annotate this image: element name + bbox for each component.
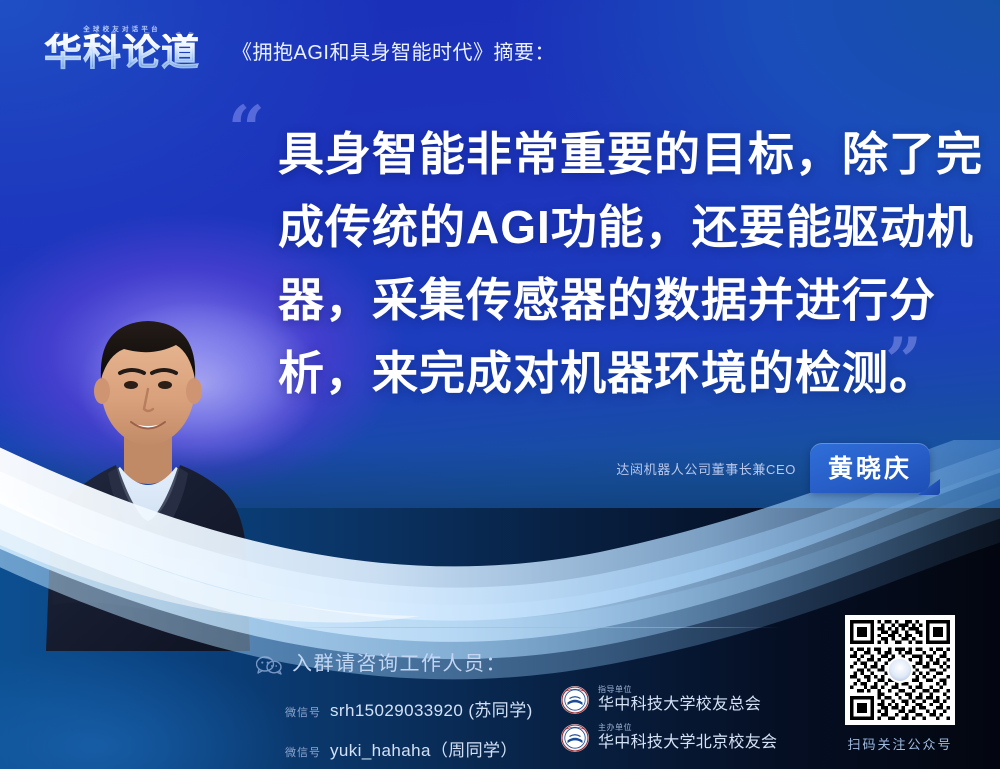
quote-open-mark: “ — [228, 98, 265, 162]
quote-close-mark: ” — [885, 330, 922, 394]
contact-row: 微信号 srh15029033920 (苏同学) — [285, 696, 533, 721]
organization-row: 指导单位 华中科技大学校友总会 — [560, 685, 777, 715]
organization-name: 华中科技大学校友总会 — [598, 697, 761, 714]
organization-name: 华中科技大学北京校友会 — [598, 735, 777, 752]
contact-value[interactable]: srh15029033920 (苏同学) — [330, 696, 533, 721]
contact-row: 微信号 yuki_hahaha（周同学） — [285, 736, 518, 761]
header: 全球校友对话平台 华科论道 《拥抱AGI和具身智能时代》摘要： — [0, 0, 1000, 88]
footer: 入群请咨询工作人员： 微信号 srh15029033920 (苏同学) 微信号 … — [0, 619, 1000, 769]
page-title: 《拥抱AGI和具身智能时代》摘要： — [232, 36, 555, 65]
logo-wordmark: 华科论道 — [44, 34, 200, 72]
quote-line: 析，来完成对机器环境的检测。 — [278, 337, 938, 410]
organization-kind: 指导单位 — [598, 686, 761, 694]
footer-title: 入群请咨询工作人员： — [292, 647, 507, 676]
speaker-name-badge: 黄晓庆 — [810, 443, 930, 493]
organizations: 指导单位 华中科技大学校友总会 主办单位 — [560, 685, 777, 761]
brand-logo[interactable]: 全球校友对话平台 华科论道 — [26, 16, 218, 72]
organization-text: 主办单位 华中科技大学北京校友会 — [598, 724, 777, 751]
poster: 全球校友对话平台 华科论道 《拥抱AGI和具身智能时代》摘要： “ 具身智能非常… — [0, 0, 1000, 769]
contact-label: 微信号 — [285, 704, 321, 720]
logo-tagline: 全球校友对话平台 — [83, 23, 161, 33]
qr-center-logo-icon — [887, 657, 913, 683]
speaker-role: 达闼机器人公司董事长兼CEO — [616, 459, 796, 478]
quote-line: 成传统的AGI功能，还要能驱动机 — [278, 191, 938, 264]
qr-block[interactable]: 扫码关注公众号 — [840, 615, 960, 753]
organization-row: 主办单位 华中科技大学北京校友会 — [560, 723, 777, 753]
university-seal-icon — [560, 685, 590, 715]
attribution: 达闼机器人公司董事长兼CEO 黄晓庆 — [616, 443, 930, 493]
wechat-icon — [256, 655, 282, 675]
qr-code-icon[interactable] — [845, 615, 955, 725]
quote-line: 具身智能非常重要的目标，除了完 — [278, 118, 938, 191]
contact-label: 微信号 — [285, 744, 321, 760]
quote-block: 具身智能非常重要的目标，除了完 成传统的AGI功能，还要能驱动机 器，采集传感器… — [278, 118, 938, 410]
university-seal-icon — [560, 723, 590, 753]
organization-kind: 主办单位 — [598, 724, 777, 732]
contact-value[interactable]: yuki_hahaha（周同学） — [330, 736, 518, 761]
quote-line: 器，采集传感器的数据并进行分 — [278, 264, 938, 337]
footer-divider — [282, 627, 780, 628]
qr-caption: 扫码关注公众号 — [840, 734, 960, 753]
organization-text: 指导单位 华中科技大学校友总会 — [598, 686, 761, 713]
